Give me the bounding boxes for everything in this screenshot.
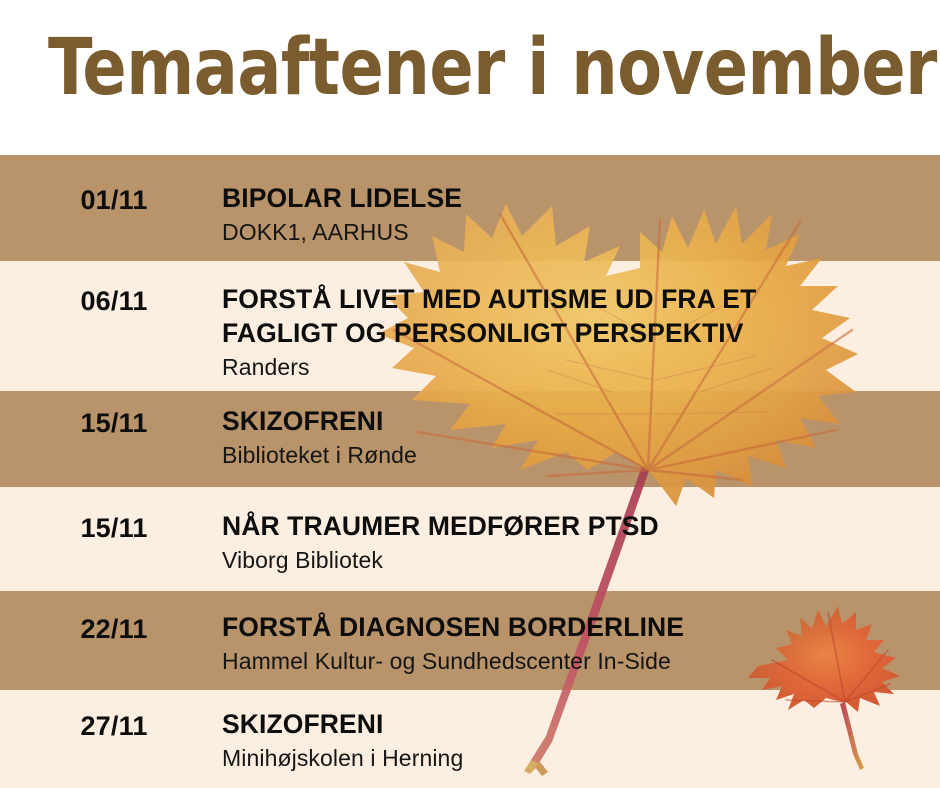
event-venue: Viborg Bibliotek xyxy=(222,545,922,575)
poster-canvas: Temaaftener i november 01/11 BIPOLAR LID… xyxy=(0,0,940,788)
title-band: Temaaftener i november xyxy=(0,0,940,155)
list-item[interactable]: 27/11 SKIZOFRENI Minihøjskolen i Herning xyxy=(0,690,940,788)
event-body: NÅR TRAUMER MEDFØRER PTSD Viborg Bibliot… xyxy=(222,509,922,575)
list-item[interactable]: 01/11 BIPOLAR LIDELSE DOKK1, AARHUS xyxy=(0,155,940,261)
event-date: 22/11 xyxy=(44,614,184,645)
event-venue: Minihøjskolen i Herning xyxy=(222,743,922,773)
list-item[interactable]: 22/11 FORSTÅ DIAGNOSEN BORDERLINE Hammel… xyxy=(0,591,940,690)
event-date: 15/11 xyxy=(44,408,184,439)
event-venue: Hammel Kultur- og Sundhedscenter In-Side xyxy=(222,646,922,676)
event-title: SKIZOFRENI xyxy=(222,404,922,438)
event-body: SKIZOFRENI Minihøjskolen i Herning xyxy=(222,707,922,773)
list-item[interactable]: 06/11 FORSTÅ LIVET MED AUTISME UD FRA ET… xyxy=(0,261,940,391)
event-title-line2: FAGLIGT OG PERSONLIGT PERSPEKTIV xyxy=(222,316,922,350)
event-title: FORSTÅ DIAGNOSEN BORDERLINE xyxy=(222,610,922,644)
event-venue: Randers xyxy=(222,352,922,382)
event-body: SKIZOFRENI Biblioteket i Rønde xyxy=(222,404,922,470)
list-item[interactable]: 15/11 SKIZOFRENI Biblioteket i Rønde xyxy=(0,391,940,487)
event-venue: Biblioteket i Rønde xyxy=(222,440,922,470)
event-date: 01/11 xyxy=(44,185,184,216)
list-item[interactable]: 15/11 NÅR TRAUMER MEDFØRER PTSD Viborg B… xyxy=(0,487,940,591)
event-date: 27/11 xyxy=(44,711,184,742)
event-body: FORSTÅ LIVET MED AUTISME UD FRA ET FAGLI… xyxy=(222,282,922,382)
event-body: FORSTÅ DIAGNOSEN BORDERLINE Hammel Kultu… xyxy=(222,610,922,676)
event-title: NÅR TRAUMER MEDFØRER PTSD xyxy=(222,509,922,543)
event-venue: DOKK1, AARHUS xyxy=(222,217,922,247)
event-title: BIPOLAR LIDELSE xyxy=(222,181,922,215)
event-date: 06/11 xyxy=(44,286,184,317)
event-body: BIPOLAR LIDELSE DOKK1, AARHUS xyxy=(222,181,922,247)
page-title: Temaaftener i november xyxy=(48,26,848,110)
event-date: 15/11 xyxy=(44,513,184,544)
event-title-line1: FORSTÅ LIVET MED AUTISME UD FRA ET xyxy=(222,282,922,316)
event-title: SKIZOFRENI xyxy=(222,707,922,741)
